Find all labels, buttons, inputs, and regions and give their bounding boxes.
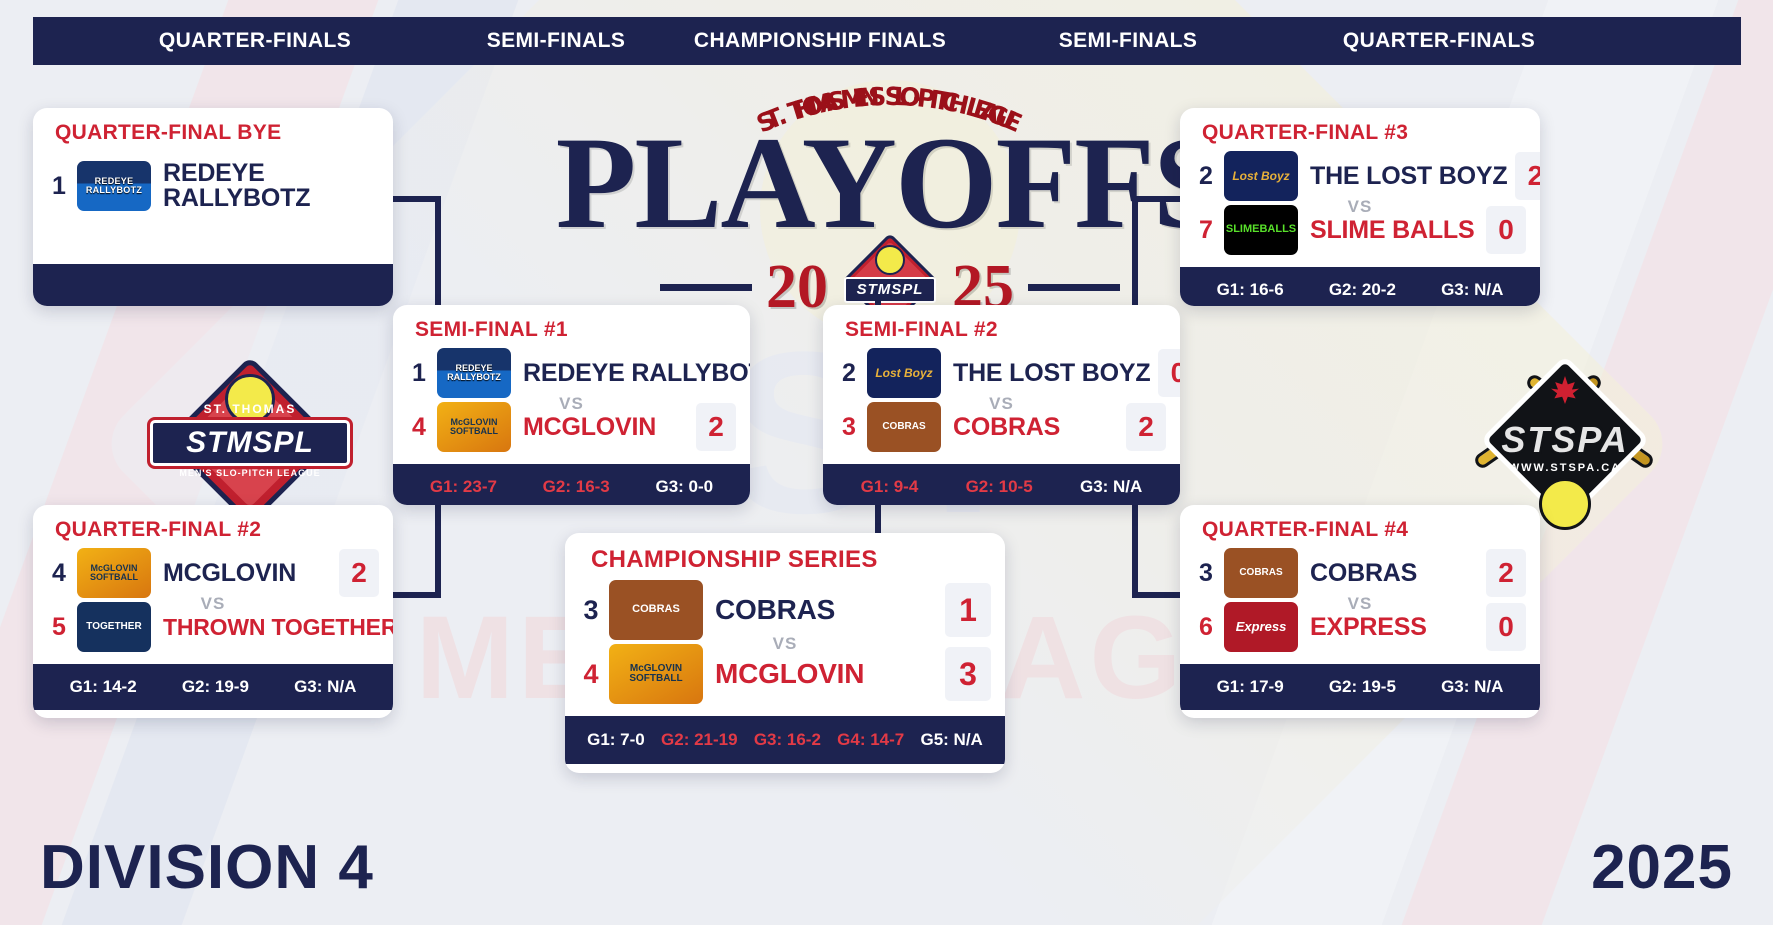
game-score: G1: 7-0	[587, 730, 645, 750]
team-name: SLIME BALLS	[1310, 216, 1478, 245]
express-logo: Express	[1224, 602, 1298, 652]
table-row[interactable]: 1 REDEYERALLYBOTZ REDEYE RALLYBOTZ	[47, 149, 379, 223]
table-row[interactable]: 3 COBRAS COBRAS 2	[837, 400, 1166, 454]
game-score: G1: 16-6	[1217, 280, 1284, 300]
hero-arc-text: ST. THOMAS MENS SLO-PITCH LEAGUE	[530, 82, 1250, 126]
card-title: SEMI-FINAL #2	[823, 305, 1180, 346]
team-seed: 1	[407, 359, 431, 388]
card-footer-game-scores: G1: 7-0 G2: 21-19 G3: 16-2 G4: 14-7 G5: …	[565, 716, 1005, 764]
card-title: QUARTER-FINAL #4	[1180, 505, 1540, 546]
game-score: G2: 21-19	[661, 730, 738, 750]
card-footer-game-scores: G1: 16-6 G2: 20-2 G3: N/A	[1180, 267, 1540, 306]
team-series-score: 0	[1486, 206, 1526, 254]
team-series-score: 2	[1515, 152, 1540, 200]
table-row[interactable]: 4 McGLOVINSOFTBALL MCGLOVIN 3	[579, 642, 991, 706]
game-score: G1: 9-4	[861, 477, 919, 497]
stmspl-logo-top-text: ST. THOMAS	[150, 402, 350, 416]
match-card-semi-final-1[interactable]: SEMI-FINAL #1 1 REDEYERALLYBOTZ REDEYE R…	[393, 305, 750, 505]
team-series-score: 2	[1126, 403, 1166, 451]
hero-dash-right	[1028, 284, 1120, 291]
table-row[interactable]: 2 Lost Boyz THE LOST BOYZ 2	[1194, 149, 1526, 203]
card-footer-game-scores: G1: 17-9 G2: 19-5 G3: N/A	[1180, 664, 1540, 710]
team-name: THROWN TOGETHER	[163, 614, 393, 641]
game-score: G2: 19-5	[1329, 677, 1396, 697]
game-score: G3: 0-0	[655, 477, 713, 497]
connector-bye-to-sf1-h	[393, 196, 441, 202]
team-rows: 1 REDEYERALLYBOTZ REDEYE RALLYBOTZ 0 VS …	[393, 346, 750, 464]
game-score: G2: 16-3	[543, 477, 610, 497]
table-row[interactable]: 5 TOGETHER THROWN TOGETHER 0	[47, 600, 379, 654]
softball-icon	[1539, 478, 1591, 530]
game-score: G3: N/A	[1080, 477, 1142, 497]
the-lost-boyz-logo: Lost Boyz	[867, 348, 941, 398]
team-seed: 2	[837, 359, 861, 388]
mcglovin-logo: McGLOVINSOFTBALL	[77, 548, 151, 598]
card-footer-game-scores: G1: 14-2 G2: 19-9 G3: N/A	[33, 664, 393, 710]
table-row[interactable]: 3 COBRAS COBRAS 2	[1194, 546, 1526, 600]
stspa-logo-url-text: WWW.STSPA.CA	[1455, 462, 1675, 474]
team-rows: 1 REDEYERALLYBOTZ REDEYE RALLYBOTZ	[33, 149, 393, 233]
team-seed: 1	[47, 172, 71, 201]
cobras-logo: COBRAS	[867, 402, 941, 452]
game-score: G2: 20-2	[1329, 280, 1396, 300]
team-rows: 2 Lost Boyz THE LOST BOYZ 0 VS 3 COBRAS …	[823, 346, 1180, 464]
team-name: COBRAS	[953, 413, 1118, 442]
round-header-bar: QUARTER-FINALS SEMI-FINALS CHAMPIONSHIP …	[33, 17, 1741, 65]
team-rows: 3 COBRAS COBRAS 2 VS 6 Express EXPRESS 0	[1180, 546, 1540, 664]
match-card-semi-final-2[interactable]: SEMI-FINAL #2 2 Lost Boyz THE LOST BOYZ …	[823, 305, 1180, 505]
team-rows: 3 COBRAS COBRAS 1 VS 4 McGLOVINSOFTBALL …	[565, 578, 1005, 716]
table-row[interactable]: 3 COBRAS COBRAS 1	[579, 578, 991, 642]
team-name: REDEYE RALLYBOTZ	[523, 359, 750, 388]
connector-qf4-to-sf2-h	[1132, 592, 1180, 598]
match-card-quarter-final-4[interactable]: QUARTER-FINAL #4 3 COBRAS COBRAS 2 VS 6 …	[1180, 505, 1540, 718]
team-seed: 4	[47, 559, 71, 588]
team-seed: 5	[47, 613, 71, 642]
game-score: G5: N/A	[921, 730, 983, 750]
team-seed: 3	[1194, 559, 1218, 588]
game-score: G3: 16-2	[754, 730, 821, 750]
table-row[interactable]: 2 Lost Boyz THE LOST BOYZ 0	[837, 346, 1166, 400]
card-title: QUARTER-FINAL #2	[33, 505, 393, 546]
game-score: G1: 23-7	[430, 477, 497, 497]
cobras-logo: COBRAS	[1224, 548, 1298, 598]
team-seed: 3	[579, 595, 603, 626]
team-name: EXPRESS	[1310, 613, 1478, 642]
table-row[interactable]: 4 McGLOVINSOFTBALL MCGLOVIN 2	[47, 546, 379, 600]
card-title: CHAMPIONSHIP SERIES	[565, 533, 1005, 578]
team-name: COBRAS	[1310, 559, 1478, 588]
game-score: G1: 17-9	[1217, 677, 1284, 697]
thrown-together-logo: TOGETHER	[77, 602, 151, 652]
redeye-rallybotz-logo: REDEYERALLYBOTZ	[437, 348, 511, 398]
table-row[interactable]: 6 Express EXPRESS 0	[1194, 600, 1526, 654]
game-score: G3: N/A	[294, 677, 356, 697]
hero-year-left: 20	[766, 252, 828, 323]
team-rows: 2 Lost Boyz THE LOST BOYZ 2 VS 7 SLIMEBA…	[1180, 149, 1540, 267]
cobras-logo: COBRAS	[609, 580, 703, 640]
team-series-score: 1	[945, 583, 991, 637]
game-score: G2: 10-5	[966, 477, 1033, 497]
connector-qf2-to-sf1-h	[393, 592, 441, 598]
round-label-championship-finals: CHAMPIONSHIP FINALS	[655, 29, 985, 53]
card-footer-game-scores: G1: 9-4 G2: 10-5 G3: N/A	[823, 464, 1180, 505]
team-series-score: 2	[1486, 549, 1526, 597]
card-footer-game-scores: G1: 23-7 G2: 16-3 G3: 0-0	[393, 464, 750, 505]
card-title: QUARTER-FINAL BYE	[33, 108, 393, 149]
table-row[interactable]: 1 REDEYERALLYBOTZ REDEYE RALLYBOTZ 0	[407, 346, 736, 400]
team-series-score: 2	[696, 403, 736, 451]
card-title: QUARTER-FINAL #3	[1180, 108, 1540, 149]
team-name: MCGLOVIN	[523, 413, 688, 442]
team-name: THE LOST BOYZ	[1310, 162, 1507, 191]
team-series-score: 2	[339, 549, 379, 597]
team-seed: 7	[1194, 216, 1218, 245]
stspa-logo-main-text: STSPA	[1461, 418, 1669, 464]
team-rows: 4 McGLOVINSOFTBALL MCGLOVIN 2 VS 5 TOGET…	[33, 546, 393, 664]
match-card-quarter-final-2[interactable]: QUARTER-FINAL #2 4 McGLOVINSOFTBALL MCGL…	[33, 505, 393, 718]
connector-qf3-to-sf2-h	[1132, 196, 1180, 202]
team-seed: 6	[1194, 613, 1218, 642]
softball-icon	[225, 374, 275, 424]
stmspl-badge-text: STMSPL	[844, 277, 936, 303]
slime-balls-logo: SLIMEBALLS	[1224, 205, 1298, 255]
card-title: SEMI-FINAL #1	[393, 305, 750, 346]
table-row[interactable]: 7 SLIMEBALLS SLIME BALLS 0	[1194, 203, 1526, 257]
team-name: REDEYE RALLYBOTZ	[163, 161, 379, 212]
hero-dash-left	[660, 284, 752, 291]
team-name: MCGLOVIN	[163, 559, 331, 588]
card-footer	[33, 264, 393, 306]
team-seed: 4	[407, 413, 431, 442]
team-series-score: 3	[945, 647, 991, 701]
game-score: G3: N/A	[1441, 677, 1503, 697]
round-label-quarter-finals-left: QUARTER-FINALS	[69, 29, 441, 53]
redeye-rallybotz-logo: REDEYERALLYBOTZ	[77, 161, 151, 211]
game-score: G2: 19-9	[182, 677, 249, 697]
stmspl-logo-bottom-text: MEN'S SLO-PITCH LEAGUE	[150, 468, 350, 478]
team-name: COBRAS	[715, 594, 937, 626]
team-name: THE LOST BOYZ	[953, 359, 1150, 388]
team-seed: 4	[579, 659, 603, 690]
stmspl-logo-main-text: STMSPL	[150, 420, 350, 466]
game-score: G4: 14-7	[837, 730, 904, 750]
stmspl-league-logo: ST. THOMAS STMSPL MEN'S SLO-PITCH LEAGUE	[150, 358, 350, 528]
team-seed: 3	[837, 413, 861, 442]
round-label-semi-finals-right: SEMI-FINALS	[985, 29, 1271, 53]
team-name: MCGLOVIN	[715, 658, 937, 690]
the-lost-boyz-logo: Lost Boyz	[1224, 151, 1298, 201]
year-label: 2025	[1591, 832, 1733, 903]
mcglovin-logo: McGLOVINSOFTBALL	[437, 402, 511, 452]
table-row[interactable]: 4 McGLOVINSOFTBALL MCGLOVIN 2	[407, 400, 736, 454]
team-seed: 2	[1194, 162, 1218, 191]
game-score: G1: 14-2	[70, 677, 137, 697]
team-series-score: 0	[1158, 349, 1180, 397]
mcglovin-logo: McGLOVINSOFTBALL	[609, 644, 703, 704]
division-label: DIVISION 4	[40, 832, 374, 903]
game-score: G3: N/A	[1441, 280, 1503, 300]
round-label-quarter-finals-right: QUARTER-FINALS	[1245, 29, 1633, 53]
team-series-score: 0	[1486, 603, 1526, 651]
match-card-quarter-final-bye[interactable]: QUARTER-FINAL BYE 1 REDEYERALLYBOTZ REDE…	[33, 108, 393, 306]
match-card-championship-series[interactable]: CHAMPIONSHIP SERIES 3 COBRAS COBRAS 1 VS…	[565, 533, 1005, 773]
match-card-quarter-final-3[interactable]: QUARTER-FINAL #3 2 Lost Boyz THE LOST BO…	[1180, 108, 1540, 306]
